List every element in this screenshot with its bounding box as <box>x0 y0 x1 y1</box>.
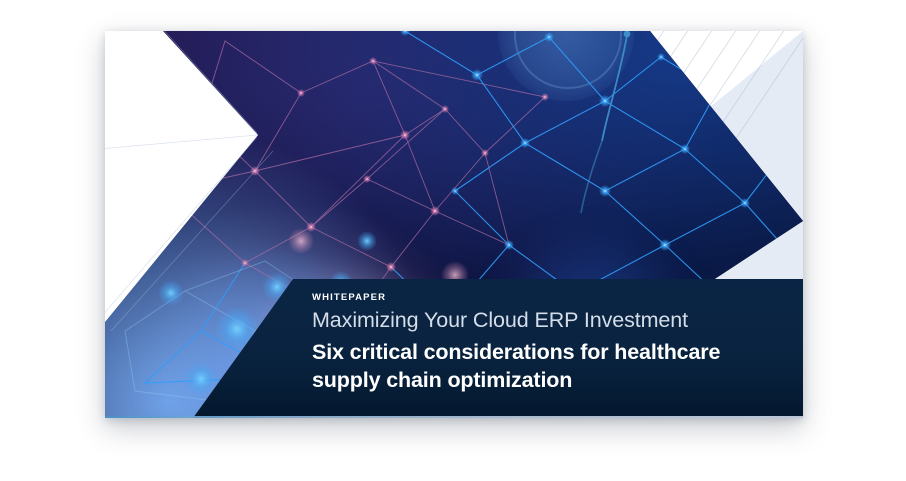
headline-line-1: Six critical considerations for healthca… <box>312 338 782 366</box>
whitepaper-cover-card: WHITEPAPER Maximizing Your Cloud ERP Inv… <box>105 31 803 418</box>
kicker-label: WHITEPAPER <box>312 292 782 304</box>
title-block: WHITEPAPER Maximizing Your Cloud ERP Inv… <box>312 279 782 418</box>
headline-line-2: supply chain optimization <box>312 366 782 394</box>
headline-text: Six critical considerations for healthca… <box>312 338 782 394</box>
subhead-text: Maximizing Your Cloud ERP Investment <box>312 306 782 335</box>
screenshot-canvas: WHITEPAPER Maximizing Your Cloud ERP Inv… <box>0 0 906 481</box>
bottom-accent-sliver <box>105 416 803 418</box>
